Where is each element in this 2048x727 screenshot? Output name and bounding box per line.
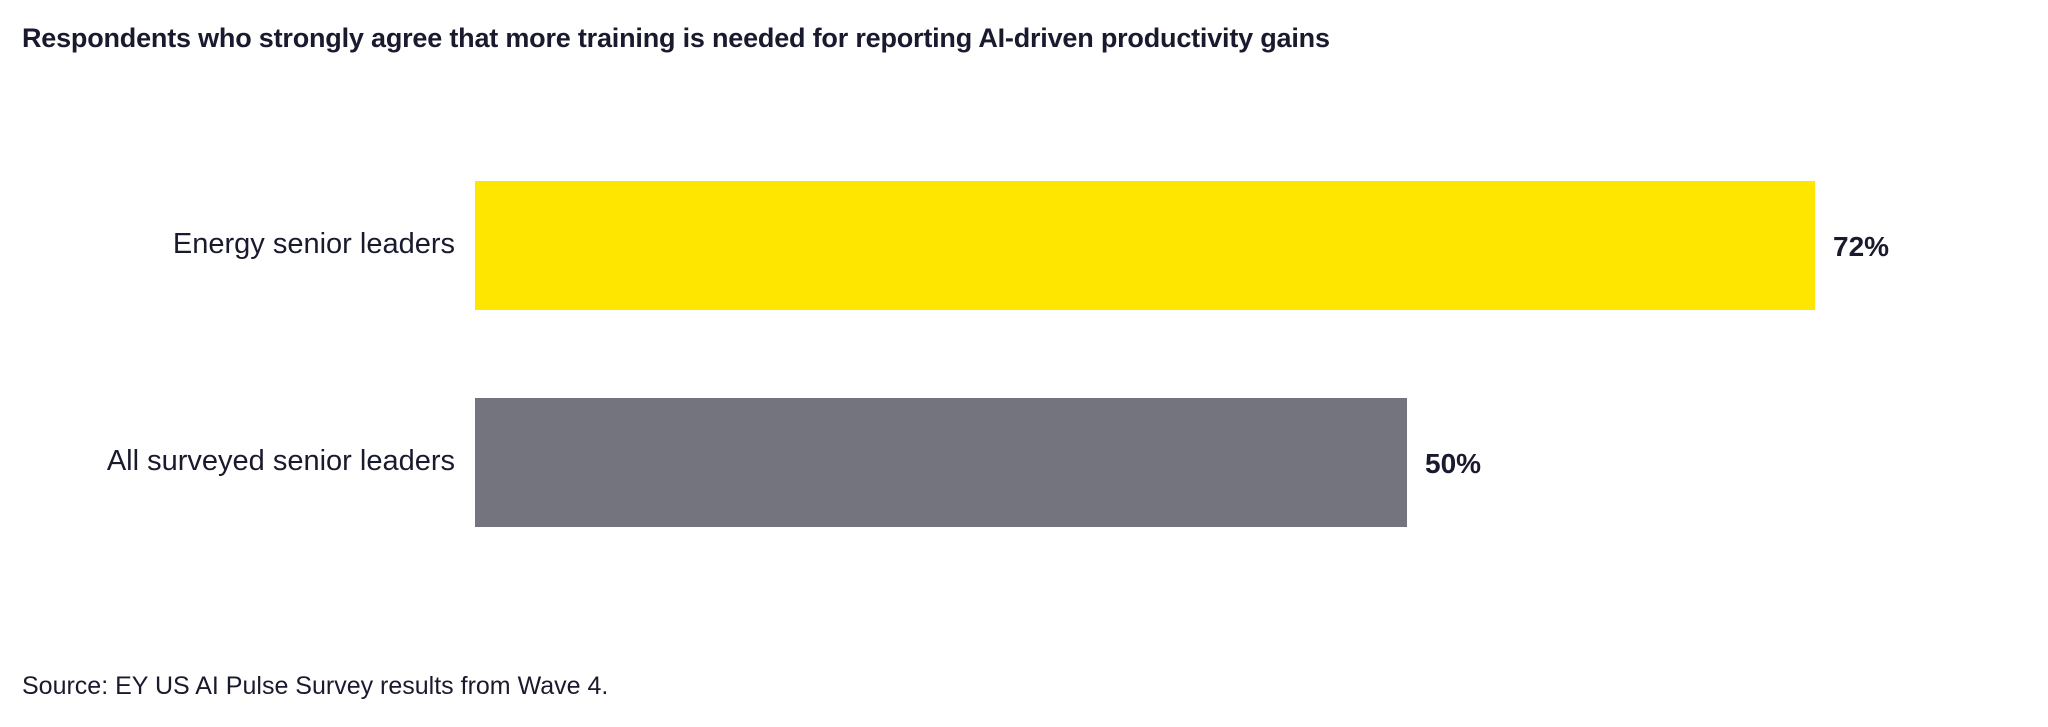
category-label-all-surveyed-senior-leaders: All surveyed senior leaders bbox=[0, 445, 455, 478]
chart-container: Respondents who strongly agree that more… bbox=[0, 0, 2048, 727]
value-label-all-surveyed-senior-leaders: 50% bbox=[1425, 448, 1481, 480]
category-label-energy-senior-leaders: Energy senior leaders bbox=[0, 228, 455, 261]
bar-energy-senior-leaders bbox=[475, 181, 1815, 310]
bar-row: All surveyed senior leaders 50% bbox=[0, 398, 2048, 527]
source-note: Source: EY US AI Pulse Survey results fr… bbox=[22, 672, 608, 701]
bar-all-surveyed-senior-leaders bbox=[475, 398, 1407, 527]
bar-row: Energy senior leaders 72% bbox=[0, 181, 2048, 310]
plot-area: Energy senior leaders 72% All surveyed s… bbox=[0, 0, 2048, 727]
value-label-energy-senior-leaders: 72% bbox=[1833, 231, 1889, 263]
